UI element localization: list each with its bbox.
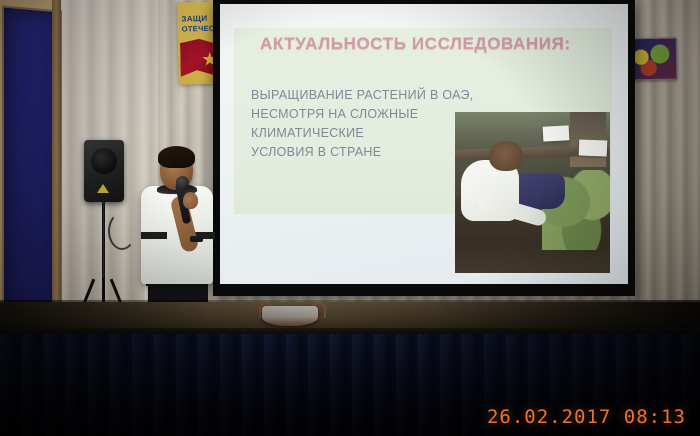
photo-plant-label [579,140,608,157]
presenter-hair [158,146,195,168]
presenter-sleeve-trim [141,232,167,239]
speaker-cone-icon [91,148,117,174]
slide-body: ВЫРАЩИВАНИЕ РАСТЕНИЙ В ОАЭ, НЕСМОТРЯ НА … [251,86,476,162]
photo-plant-label [543,125,570,141]
pa-speaker [84,140,124,202]
camera-timestamp: 26.02.2017 08:13 [487,406,686,428]
slide-body-line-2: НЕСМОТРЯ НА СЛОЖНЫЕ [251,105,476,124]
presenter-hand [183,192,198,209]
slide-body-line-4: УСЛОВИЯ В СТРАНЕ [251,143,476,162]
speaker-cable [108,212,136,250]
poster-line-1: ЗАЩИ [181,14,207,24]
photo-child-head [489,141,523,171]
speaker-logo-icon [97,184,109,193]
presentation-photo: ЗАЩИ ОТЕЧЕСТ АКТУАЛЬНОСТЬ ИССЛЕДОВАНИЯ: … [0,0,700,436]
slide-body-line-1: ВЫРАЩИВАНИЕ РАСТЕНИЙ В ОАЭ, [251,86,476,105]
speaker-stand-pole [102,200,105,288]
microphone-head-icon [176,176,189,189]
slide-embedded-photo [455,112,610,273]
presenter-wristwatch [190,236,203,242]
wall-edge [52,0,61,320]
slide-body-line-3: КЛИМАТИЧЕСКИЕ [251,124,476,143]
slide-title: АКТУАЛЬНОСТЬ ИССЛЕДОВАНИЯ: [260,34,571,54]
